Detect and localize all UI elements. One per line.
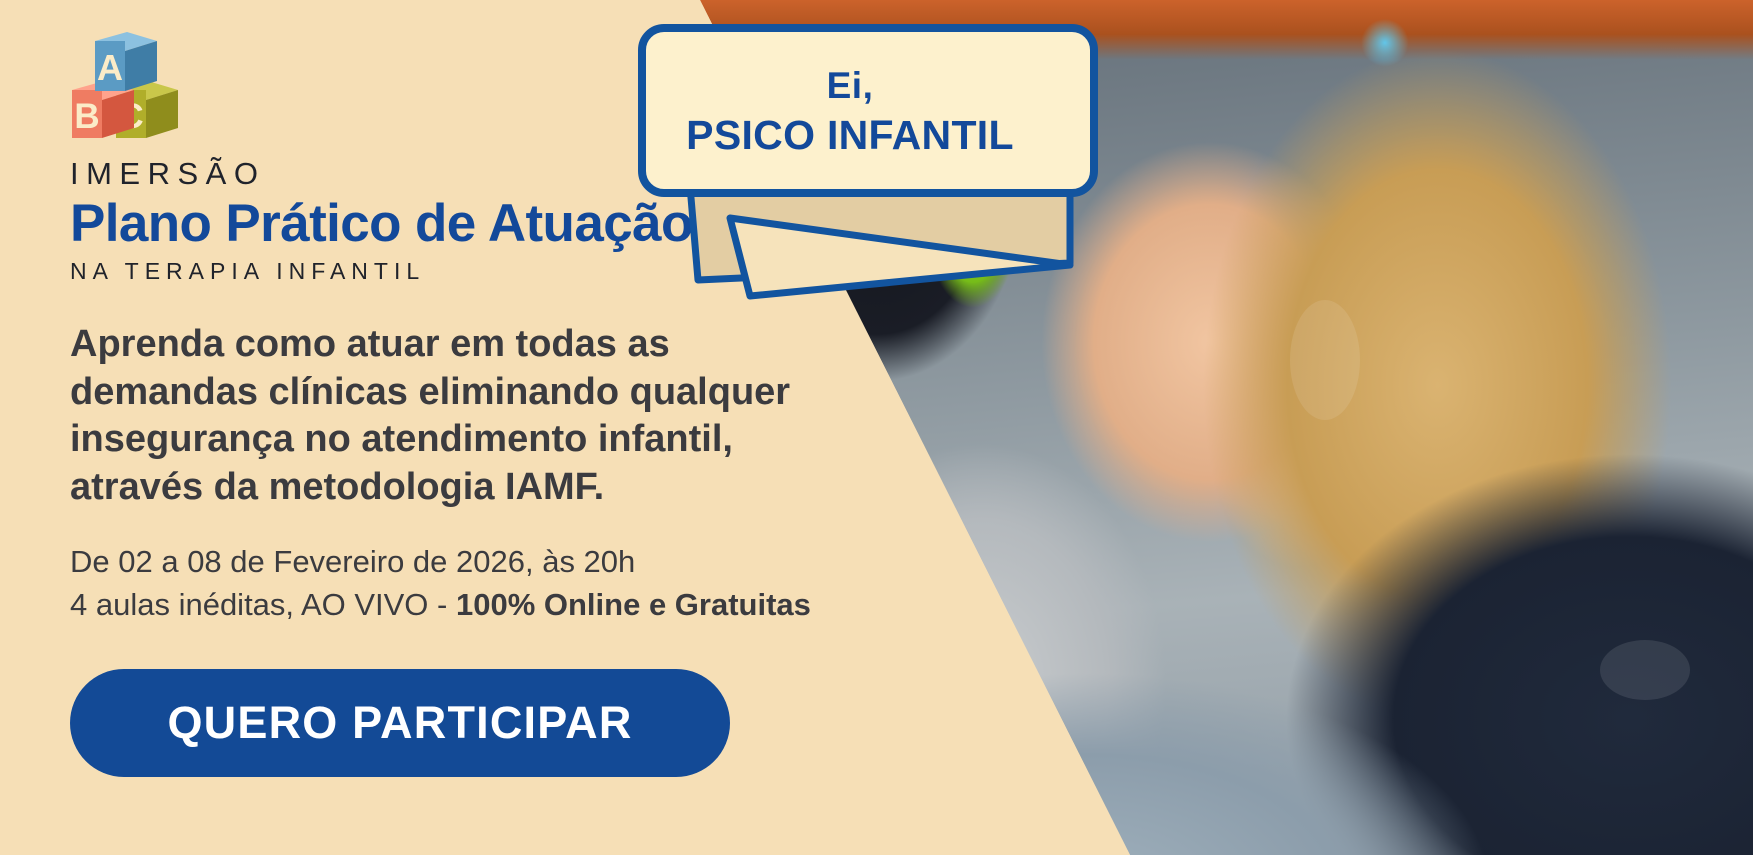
detail-classes-bold: 100% Online e Gratuitas bbox=[456, 587, 811, 622]
lead-paragraph: Aprenda como atuar em todas as demandas … bbox=[70, 321, 830, 511]
quero-participar-button[interactable]: QUERO PARTICIPAR bbox=[70, 669, 730, 777]
detail-classes-line: 4 aulas inéditas, AO VIVO - 100% Online … bbox=[70, 584, 900, 627]
abc-blocks-logo: C B A bbox=[70, 28, 185, 140]
speech-bubble: Ei, PSICO INFANTIL bbox=[630, 18, 1100, 298]
detail-classes-prefix: 4 aulas inéditas, AO VIVO - bbox=[70, 587, 456, 622]
svg-text:B: B bbox=[74, 97, 99, 136]
svg-text:A: A bbox=[97, 47, 123, 88]
promo-banner: C B A IMERSÃO Plano Prático de Atuação N… bbox=[0, 0, 1753, 855]
detail-date-line: De 02 a 08 de Fevereiro de 2026, às 20h bbox=[70, 541, 900, 584]
